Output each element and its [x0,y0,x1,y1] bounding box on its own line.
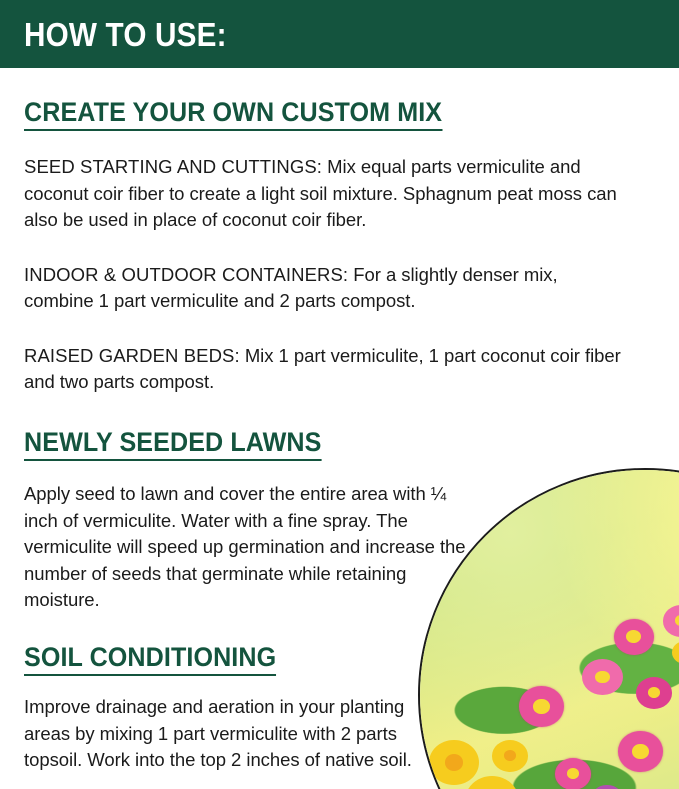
pink-flower [555,758,591,789]
paragraph-lead-seed-starting: SEED STARTING AND CUTTINGS: [24,156,322,177]
paragraph-newly-seeded-lawns: Apply seed to lawn and cover the entire … [24,481,479,614]
paragraph-containers: INDOOR & OUTDOOR CONTAINERS: For a sligh… [24,262,624,315]
pink-flower [519,686,564,727]
yellow-flower [429,740,479,785]
page-title: HOW TO USE: [24,18,227,51]
paragraph-lead-raised-beds: RAISED GARDEN BEDS: [24,345,240,366]
product-instruction-graphic: HOW TO USE: CREATE YOUR OWN CUSTOM MIX S… [0,0,679,789]
yellow-flower [492,740,528,772]
pink-flower [614,619,655,655]
paragraph-raised-beds: RAISED GARDEN BEDS: Mix 1 part vermiculi… [24,343,624,396]
flower-photo [418,468,679,789]
paragraph-soil-conditioning: Improve drainage and aeration in your pl… [24,694,439,774]
header-bar: HOW TO USE: [0,0,679,68]
pink-flower [636,677,672,709]
paragraph-lead-containers: INDOOR & OUTDOOR CONTAINERS: [24,264,348,285]
photo-background [420,470,679,789]
paragraph-seed-starting: SEED STARTING AND CUTTINGS: Mix equal pa… [24,154,624,234]
section-heading-custom-mix: CREATE YOUR OWN CUSTOM MIX [24,98,442,131]
section-heading-soil-conditioning: SOIL CONDITIONING [24,643,276,676]
section-heading-newly-seeded-lawns: NEWLY SEEDED LAWNS [24,428,321,461]
section-custom-mix: CREATE YOUR OWN CUSTOM MIX [24,98,660,131]
section-newly-seeded-lawns: NEWLY SEEDED LAWNS [24,428,660,461]
pink-flower [582,659,623,695]
pink-flower [618,731,663,772]
